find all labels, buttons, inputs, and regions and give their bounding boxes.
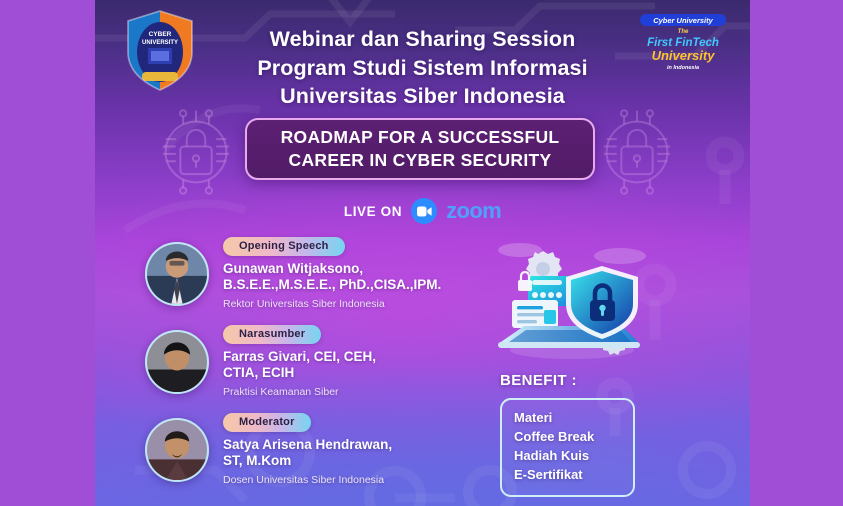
zoom-camera-icon — [411, 198, 437, 224]
speaker-badge-narasumber: Narasumber — [223, 325, 321, 344]
benefit-section: BENEFIT : Materi Coffee Break Hadiah Kui… — [500, 372, 680, 497]
cyber-university-wordmark-logo: Cyber University The First FinTech Unive… — [628, 12, 738, 74]
benefit-item: Materi — [514, 409, 621, 428]
speaker-name-line2: CTIA, ECIH — [223, 365, 445, 381]
speaker-name-line1: Farras Givari, CEI, CEH, — [223, 349, 445, 365]
benefit-title: BENEFIT : — [500, 372, 680, 389]
speaker-photo-gunawan — [145, 242, 209, 306]
speakers-list: Opening Speech Gunawan Witjaksono, B.S.E… — [115, 236, 445, 500]
wordmark-line1: Cyber University — [653, 16, 713, 25]
crest-line2: UNIVERSITY — [142, 40, 178, 46]
speaker-row-moderator: Moderator Satya Arisena Hendrawan, ST, M… — [115, 412, 445, 500]
speaker-name-line1: Gunawan Witjaksono, — [223, 261, 445, 277]
webinar-poster: CYBER UNIVERSITY Cyber University The Fi… — [95, 0, 750, 506]
speaker-name-line1: Satya Arisena Hendrawan, — [223, 437, 445, 453]
benefit-box: Materi Coffee Break Hadiah Kuis E-Sertif… — [500, 398, 635, 497]
letterbox-bar-left — [0, 0, 95, 506]
speaker-name-line2: B.S.E.E.,M.S.E.E., PhD.,CISA.,IPM. — [223, 277, 445, 293]
speaker-info-gunawan: Opening Speech Gunawan Witjaksono, B.S.E… — [223, 236, 445, 310]
benefit-item: Coffee Break — [514, 428, 621, 447]
speaker-row-narasumber: Narasumber Farras Givari, CEI, CEH, CTIA… — [115, 324, 445, 412]
wordmark-line4: University — [652, 48, 716, 63]
speaker-info-farras: Narasumber Farras Givari, CEI, CEH, CTIA… — [223, 324, 445, 398]
benefit-item: Hadiah Kuis — [514, 447, 621, 466]
benefit-item: E-Sertifikat — [514, 466, 621, 485]
wordmark-line5: in Indonesia — [667, 65, 699, 71]
speaker-role-satya: Dosen Universitas Siber Indonesia — [223, 474, 445, 486]
speaker-row-opening-speech: Opening Speech Gunawan Witjaksono, B.S.E… — [115, 236, 445, 324]
crest-line1: CYBER — [149, 31, 172, 38]
live-on-zoom: LIVE ON zoom — [95, 198, 750, 224]
speaker-role-gunawan: Rektor Universitas Siber Indonesia — [223, 298, 445, 310]
decorative-lock-icon-right — [591, 102, 683, 202]
zoom-wordmark: zoom — [446, 198, 501, 224]
live-on-label: LIVE ON — [344, 204, 402, 219]
decorative-lock-icon-left — [150, 102, 242, 202]
speaker-photo-satya — [145, 418, 209, 482]
title-line-2: CAREER IN CYBER SECURITY — [289, 149, 552, 172]
speaker-badge-opening-speech: Opening Speech — [223, 237, 345, 256]
speaker-badge-moderator: Moderator — [223, 413, 311, 432]
speaker-photo-farras — [145, 330, 209, 394]
wordmark-line2: The — [678, 29, 689, 35]
letterbox-bar-right — [750, 0, 843, 506]
speaker-role-farras: Praktisi Keamanan Siber — [223, 386, 445, 398]
cyber-university-crest-logo: CYBER UNIVERSITY — [120, 8, 200, 94]
poster-title-banner: ROADMAP FOR A SUCCESSFUL CAREER IN CYBER… — [245, 118, 595, 180]
cyber-security-laptop-shield-illustration — [480, 238, 665, 363]
speaker-info-satya: Moderator Satya Arisena Hendrawan, ST, M… — [223, 412, 445, 486]
speaker-name-line2: ST, M.Kom — [223, 453, 445, 469]
poster-stage: CYBER UNIVERSITY Cyber University The Fi… — [0, 0, 843, 506]
title-line-1: ROADMAP FOR A SUCCESSFUL — [281, 126, 560, 149]
